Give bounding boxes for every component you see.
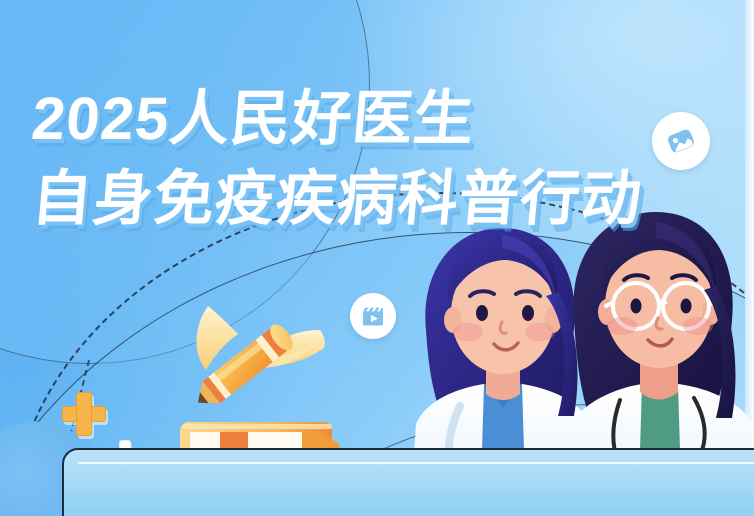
doctor-right-blush-left (607, 317, 637, 335)
doctor-right-eye-right (681, 299, 692, 314)
title-line-2: 自身免疫疾病科普行动 (29, 160, 696, 238)
image-icon (663, 123, 699, 159)
image-badge[interactable] (652, 112, 710, 170)
doctor-left-eye-left (476, 305, 488, 321)
poster-banner: 2025人民好医生 自身免疫疾病科普行动 (0, 0, 754, 516)
poster-title: 2025人民好医生 自身免疫疾病科普行动 (32, 80, 692, 238)
plus-mark-orange (62, 392, 106, 436)
desk-front-bar (62, 448, 754, 516)
video-clapperboard-icon (359, 302, 387, 330)
book-highlight (182, 424, 332, 429)
doctor-left-blush-left (453, 323, 483, 341)
title-line-1: 2025人民好医生 (29, 80, 696, 158)
plus-bar-vertical (76, 392, 92, 436)
desk-highlight-line (78, 462, 754, 464)
doctor-left-eye-right (522, 305, 534, 321)
doctor-right-eye-left (631, 299, 642, 314)
video-badge[interactable] (350, 293, 396, 339)
doctor-left-blush-right (525, 323, 555, 341)
doctor-right-blush-right (683, 317, 713, 335)
